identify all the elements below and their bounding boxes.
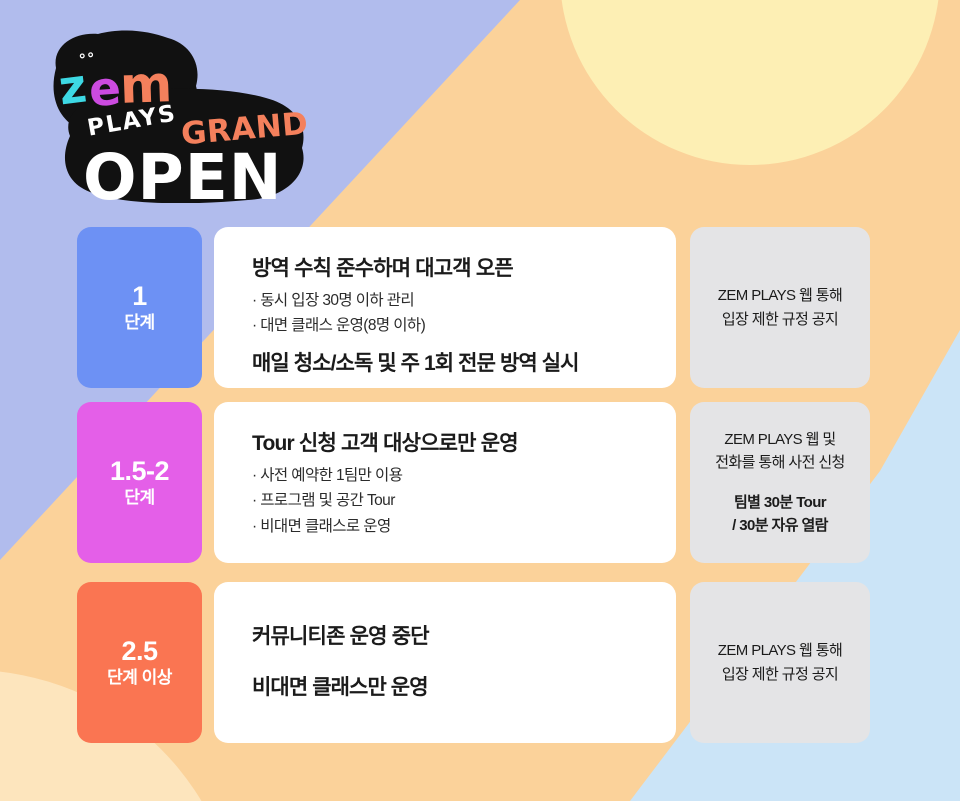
note-line: / 30분 자유 열람 xyxy=(732,514,828,537)
note-line: 입장 제한 규정 공지 xyxy=(718,308,842,331)
detail-bullet-item: · 사전 예약한 1팀만 이용 xyxy=(252,463,676,488)
note-line: ZEM PLAYS 웹 및 xyxy=(715,428,845,451)
note-block: 팀별 30분 Tour/ 30분 자유 열람 xyxy=(732,491,828,538)
step-badge-number: 1 xyxy=(132,281,147,312)
poster-canvas: °° z e m PLAYS GRAND OPEN 1단계방역 수칙 준수하며 … xyxy=(0,0,960,801)
detail-heading: 방역 수칙 준수하며 대고객 오픈 xyxy=(252,255,676,283)
step-badge-sublabel: 단계 이상 xyxy=(107,667,172,689)
note-line: ZEM PLAYS 웹 통해 xyxy=(718,284,842,307)
step-badge-sublabel: 단계 xyxy=(124,312,154,334)
detail-bullet-list: · 동시 입장 30명 이하 관리· 대면 클래스 운영(8명 이하) xyxy=(252,288,676,338)
step-badge-1: 1단계 xyxy=(77,227,202,388)
note-block: ZEM PLAYS 웹 통해입장 제한 규정 공지 xyxy=(718,639,842,686)
note-block: ZEM PLAYS 웹 및전화를 통해 사전 신청 xyxy=(715,428,845,475)
detail-card-1: 방역 수칙 준수하며 대고객 오픈· 동시 입장 30명 이하 관리· 대면 클… xyxy=(214,227,676,388)
note-card-1: ZEM PLAYS 웹 통해입장 제한 규정 공지 xyxy=(690,227,870,388)
detail-bullet-item: · 비대면 클래스로 운영 xyxy=(252,514,676,539)
detail-bullet-item: · 동시 입장 30명 이하 관리 xyxy=(252,288,676,313)
detail-heading: 커뮤니티존 운영 중단 xyxy=(252,623,676,651)
step-badge-number: 1.5-2 xyxy=(110,456,169,487)
detail-card-1.5-2: Tour 신청 고객 대상으로만 운영· 사전 예약한 1팀만 이용· 프로그램… xyxy=(214,402,676,563)
detail-bullet-list: · 사전 예약한 1팀만 이용· 프로그램 및 공간 Tour· 비대면 클래스… xyxy=(252,463,676,538)
detail-footer: 매일 청소/소독 및 주 1회 전문 방역 실시 xyxy=(252,350,676,378)
step-badge-number: 2.5 xyxy=(121,636,157,667)
note-card-2.5: ZEM PLAYS 웹 통해입장 제한 규정 공지 xyxy=(690,582,870,743)
detail-footer: 비대면 클래스만 운영 xyxy=(252,674,676,702)
note-line: ZEM PLAYS 웹 통해 xyxy=(718,639,842,662)
stage-rows-container: 1단계방역 수칙 준수하며 대고객 오픈· 동시 입장 30명 이하 관리· 대… xyxy=(0,0,960,801)
note-line: 팀별 30분 Tour xyxy=(732,491,828,514)
note-block: ZEM PLAYS 웹 통해입장 제한 규정 공지 xyxy=(718,284,842,331)
detail-heading: Tour 신청 고객 대상으로만 운영 xyxy=(252,430,676,458)
note-line: 입장 제한 규정 공지 xyxy=(718,663,842,686)
step-badge-1.5-2: 1.5-2단계 xyxy=(77,402,202,563)
detail-bullet-item: · 대면 클래스 운영(8명 이하) xyxy=(252,313,676,338)
step-badge-2.5: 2.5단계 이상 xyxy=(77,582,202,743)
step-badge-sublabel: 단계 xyxy=(124,487,154,509)
detail-card-2.5: 커뮤니티존 운영 중단비대면 클래스만 운영 xyxy=(214,582,676,743)
note-line: 전화를 통해 사전 신청 xyxy=(715,451,845,474)
detail-bullet-item: · 프로그램 및 공간 Tour xyxy=(252,488,676,513)
note-card-1.5-2: ZEM PLAYS 웹 및전화를 통해 사전 신청팀별 30분 Tour/ 30… xyxy=(690,402,870,563)
